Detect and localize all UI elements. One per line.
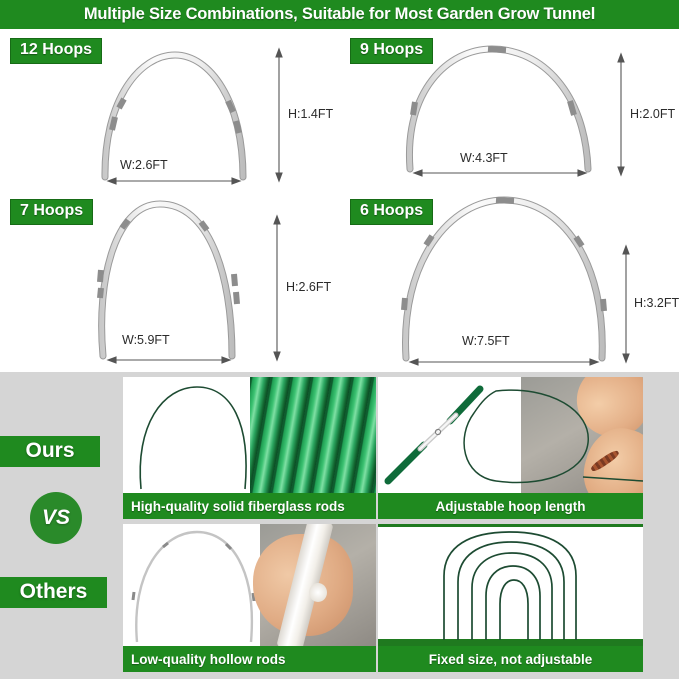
hoop-connector — [413, 49, 574, 115]
frayed-fiber-end — [309, 583, 328, 603]
width-dimension-line — [108, 357, 230, 363]
fiberglass-rod-bundle-photo — [250, 377, 377, 493]
others-badge: Others — [0, 577, 107, 608]
width-label: W:4.3FT — [460, 151, 508, 165]
product-infographic: Multiple Size Combinations, Suitable for… — [0, 0, 679, 679]
comparison-cells: High-quality solid fiberglass rods — [120, 372, 679, 679]
hoop-count-badge: 9 Hoops — [350, 38, 433, 64]
height-label: H:2.6FT — [286, 280, 331, 294]
hoop-connector — [112, 99, 239, 133]
caption-others-fixed: Fixed size, not adjustable — [378, 646, 643, 672]
photo-hollow-rods — [123, 524, 376, 646]
caption-ours-adjustable: Adjustable hoop length — [378, 493, 643, 519]
connector-rod-and-loop-illustration — [378, 377, 643, 493]
height-label: H:3.2FT — [634, 296, 679, 310]
height-dimension-line — [274, 216, 280, 360]
width-label: W:2.6FT — [120, 158, 168, 172]
width-dimension-line — [108, 178, 240, 184]
header-banner: Multiple Size Combinations, Suitable for… — [0, 0, 679, 29]
caption-ours-fiberglass: High-quality solid fiberglass rods — [123, 493, 376, 519]
size-diagram-12-hoops: 12 Hoops — [0, 29, 340, 186]
height-dimension-line — [618, 54, 624, 175]
hoop-count-badge: 7 Hoops — [10, 199, 93, 225]
nested-green-arches-illustration — [378, 524, 643, 646]
vs-badge: VS — [30, 492, 82, 544]
size-diagram-7-hoops: 7 Hoops — [0, 186, 340, 372]
comparison-labels-column: Ours VS Others — [0, 372, 120, 679]
height-label: H:2.0FT — [630, 107, 675, 121]
width-dimension-line — [410, 359, 598, 365]
caption-others-hollow: Low-quality hollow rods — [123, 646, 376, 672]
height-dimension-line — [623, 246, 629, 362]
hoop-count-badge: 6 Hoops — [350, 199, 433, 225]
hoop-connector — [404, 200, 604, 311]
comparison-section: Ours VS Others High-quality solid fiberg… — [0, 372, 679, 679]
banner-title: Multiple Size Combinations, Suitable for… — [84, 5, 595, 24]
width-label: W:7.5FT — [462, 334, 510, 348]
photo-fiberglass-rods — [123, 377, 376, 493]
comparison-cell-ours-adjustable: Adjustable hoop length — [378, 377, 643, 519]
hoop-count-badge: 12 Hoops — [10, 38, 102, 64]
size-diagram-9-hoops: 9 Hoops — [340, 29, 679, 186]
width-dimension-line — [414, 170, 586, 176]
comparison-cell-ours-fiberglass: High-quality solid fiberglass rods — [123, 377, 376, 519]
size-diagram-section: 12 Hoops — [0, 29, 679, 372]
size-diagram-6-hoops: 6 Hoops — [340, 186, 679, 372]
ours-badge: Ours — [0, 436, 100, 467]
hand-holding-frayed-rod-photo — [260, 524, 376, 646]
photo-fixed-size-hoops — [378, 524, 643, 646]
photo-adjustable-hoop — [378, 377, 643, 493]
comparison-cell-others-hollow: Low-quality hollow rods — [123, 524, 376, 672]
height-label: H:1.4FT — [288, 107, 333, 121]
comparison-cell-others-fixed: Fixed size, not adjustable — [378, 524, 643, 672]
width-label: W:5.9FT — [122, 333, 170, 347]
height-dimension-line — [276, 49, 282, 181]
